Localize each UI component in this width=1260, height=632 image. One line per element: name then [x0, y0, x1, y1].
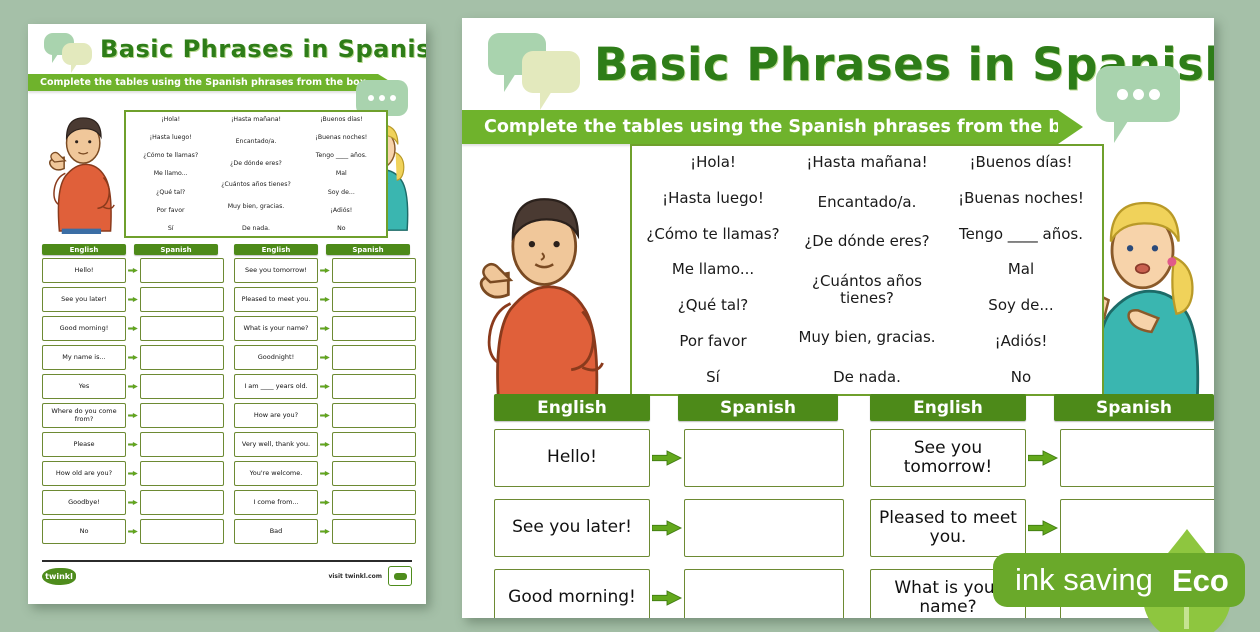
phrase-column-3: ¡Buenos días! ¡Buenas noches! Tengo ____…	[299, 116, 384, 232]
arrow-right-icon	[128, 268, 138, 273]
arrow-right-icon	[320, 413, 330, 418]
english-phrase-cell: Please	[42, 432, 126, 457]
speech-bubble-icon	[42, 29, 96, 69]
english-phrase-cell: You're welcome.	[234, 461, 318, 486]
english-phrase-cell: Pleased to meet you.	[234, 287, 318, 312]
spanish-answer-cell[interactable]	[332, 461, 416, 486]
arrow-right-icon	[128, 326, 138, 331]
page-title: Basic Phrases in Spanish	[100, 35, 426, 63]
spanish-answer-cell[interactable]	[140, 345, 224, 370]
ink-saving-eco-badge: ink saving Eco	[993, 527, 1260, 632]
table-row: What is your name?	[234, 316, 416, 341]
table-row: Goodbye!	[42, 490, 224, 515]
table-row: How old are you?	[42, 461, 224, 486]
english-phrase-cell: Where do you come from?	[42, 403, 126, 428]
english-phrase-cell: What is your name?	[234, 316, 318, 341]
arrow-right-icon	[318, 355, 332, 360]
table-header-row: English Spanish	[42, 244, 224, 255]
spanish-answer-cell[interactable]	[1060, 429, 1214, 487]
table-left: English Spanish Hello!See you later!Good…	[494, 394, 844, 618]
speech-bubble-dots-icon	[1096, 66, 1180, 122]
phrase-column-1: ¡Hola! ¡Hasta luego! ¿Cómo te llamas? Me…	[636, 154, 790, 386]
english-phrase-cell: How are you?	[234, 403, 318, 428]
table-row: Bad	[234, 519, 416, 544]
table-row: Please	[42, 432, 224, 457]
table-row: My name is...	[42, 345, 224, 370]
ink-saving-label: ink saving	[1015, 562, 1153, 598]
arrow-right-icon	[318, 529, 332, 534]
spanish-answer-cell[interactable]	[332, 287, 416, 312]
phrase-box: ¡Hola! ¡Hasta luego! ¿Cómo te llamas? Me…	[630, 144, 1104, 396]
arrow-right-icon	[318, 442, 332, 447]
spanish-answer-cell[interactable]	[332, 258, 416, 283]
arrow-right-icon	[320, 297, 330, 302]
phrase-column-2: ¡Hasta mañana! Encantado/a. ¿De dónde er…	[790, 154, 944, 386]
arrow-right-icon	[126, 471, 140, 476]
table-header-row: English Spanish	[234, 244, 416, 255]
spanish-answer-cell[interactable]	[140, 287, 224, 312]
spanish-answer-cell[interactable]	[140, 432, 224, 457]
table-row: Good morning!	[494, 569, 844, 618]
table-row: See you later!	[42, 287, 224, 312]
footer: twinkl visit twinkl.com	[42, 564, 412, 588]
arrow-right-icon	[320, 442, 330, 447]
english-phrase-cell: I come from...	[234, 490, 318, 515]
spanish-answer-cell[interactable]	[140, 316, 224, 341]
arrow-right-icon	[652, 520, 682, 536]
boy-illustration	[472, 188, 612, 418]
arrow-right-icon	[126, 355, 140, 360]
table-row: How are you?	[234, 403, 416, 428]
table-row: I am ____ years old.	[234, 374, 416, 399]
arrow-right-icon	[128, 500, 138, 505]
column-header-english: English	[494, 394, 650, 421]
table-left: English Spanish Hello!See you later!Good…	[42, 244, 224, 548]
spanish-answer-cell[interactable]	[684, 429, 844, 487]
english-phrase-cell: Good morning!	[494, 569, 650, 618]
arrow-right-icon	[318, 384, 332, 389]
column-header-english: English	[870, 394, 1026, 421]
arrow-right-icon	[126, 268, 140, 273]
spanish-answer-cell[interactable]	[140, 403, 224, 428]
arrow-right-icon	[320, 500, 330, 505]
english-phrase-cell: How old are you?	[42, 461, 126, 486]
arrow-right-icon	[126, 326, 140, 331]
spanish-answer-cell[interactable]	[684, 569, 844, 618]
table-row: Where do you come from?	[42, 403, 224, 428]
arrow-right-icon	[320, 355, 330, 360]
arrow-right-icon	[128, 384, 138, 389]
phrase-column-2: ¡Hasta mañana! Encantado/a. ¿De dónde er…	[213, 116, 298, 232]
instruction-text: Complete the tables using the Spanish ph…	[484, 117, 1091, 137]
arrow-right-icon	[320, 471, 330, 476]
spanish-answer-cell[interactable]	[332, 403, 416, 428]
speech-bubble-icon	[484, 25, 588, 103]
arrow-right-icon	[318, 471, 332, 476]
arrow-right-icon	[128, 297, 138, 302]
arrow-right-icon	[318, 268, 332, 273]
footer-divider	[42, 560, 412, 562]
table-row: Pleased to meet you.	[234, 287, 416, 312]
arrow-right-icon	[126, 529, 140, 534]
spanish-answer-cell[interactable]	[140, 374, 224, 399]
boy-illustration	[46, 112, 118, 234]
column-header-english: English	[234, 244, 318, 255]
arrow-right-icon	[652, 450, 682, 466]
arrow-right-icon	[318, 326, 332, 331]
table-row: Goodnight!	[234, 345, 416, 370]
table-row: See you later!	[494, 499, 844, 557]
english-phrase-cell: Very well, thank you.	[234, 432, 318, 457]
english-phrase-cell: Hello!	[494, 429, 650, 487]
english-phrase-cell: No	[42, 519, 126, 544]
english-phrase-cell: See you tomorrow!	[234, 258, 318, 283]
arrow-right-icon	[320, 326, 330, 331]
spanish-answer-cell[interactable]	[332, 374, 416, 399]
table-row: You're welcome.	[234, 461, 416, 486]
table-row: Hello!	[42, 258, 224, 283]
arrow-right-icon	[320, 268, 330, 273]
english-phrase-cell: Yes	[42, 374, 126, 399]
screenshot-stage: Basic Phrases in Spanish Complete the ta…	[0, 0, 1260, 630]
spanish-answer-cell[interactable]	[332, 316, 416, 341]
spanish-answer-cell[interactable]	[684, 499, 844, 557]
phrase-box: ¡Hola! ¡Hasta luego! ¿Cómo te llamas? Me…	[124, 110, 388, 238]
english-phrase-cell: I am ____ years old.	[234, 374, 318, 399]
arrow-right-icon	[128, 471, 138, 476]
table-row: Good morning!	[42, 316, 224, 341]
column-header-english: English	[42, 244, 126, 255]
arrow-right-icon	[126, 500, 140, 505]
spanish-answer-cell[interactable]	[332, 432, 416, 457]
arrow-right-icon	[320, 529, 330, 534]
spanish-answer-cell[interactable]	[140, 461, 224, 486]
table-header-row: English Spanish	[870, 394, 1214, 421]
table-right: English Spanish See you tomorrow!Pleased…	[234, 244, 416, 548]
table-row: See you tomorrow!	[870, 429, 1214, 487]
spanish-answer-cell[interactable]	[140, 258, 224, 283]
arrow-right-icon	[126, 442, 140, 447]
arrow-right-icon	[318, 413, 332, 418]
spanish-answer-cell[interactable]	[332, 490, 416, 515]
visit-link[interactable]: visit twinkl.com	[328, 573, 382, 580]
instruction-banner: Complete the tables using the Spanish ph…	[462, 110, 1058, 144]
arrow-right-icon	[320, 384, 330, 389]
arrow-right-icon	[652, 590, 682, 606]
table-row: Yes	[42, 374, 224, 399]
table-row: No	[42, 519, 224, 544]
arrow-right-icon	[318, 297, 332, 302]
phrase-column-3: ¡Buenos días! ¡Buenas noches! Tengo ____…	[944, 154, 1098, 386]
arrow-right-icon	[1026, 450, 1060, 466]
english-phrase-cell: See you later!	[494, 499, 650, 557]
table-row: Very well, thank you.	[234, 432, 416, 457]
column-header-spanish: Spanish	[1054, 394, 1214, 421]
spanish-answer-cell[interactable]	[140, 519, 224, 544]
table-row: Hello!	[494, 429, 844, 487]
column-header-spanish: Spanish	[134, 244, 218, 255]
arrow-right-icon	[128, 442, 138, 447]
arrow-right-icon	[128, 529, 138, 534]
arrow-right-icon	[318, 500, 332, 505]
arrow-right-icon	[126, 413, 140, 418]
english-phrase-cell: See you tomorrow!	[870, 429, 1026, 487]
english-phrase-cell: Bad	[234, 519, 318, 544]
arrow-right-icon	[128, 413, 138, 418]
arrow-right-icon	[126, 384, 140, 389]
worksheet-thumbnail[interactable]: Basic Phrases in Spanish Complete the ta…	[28, 24, 426, 604]
table-header-row: English Spanish	[494, 394, 844, 421]
table-row: I come from...	[234, 490, 416, 515]
eco-label: Eco	[1172, 563, 1229, 599]
english-phrase-cell: Goodbye!	[42, 490, 126, 515]
instruction-banner: Complete the tables using the Spanish ph…	[28, 74, 378, 91]
column-header-spanish: Spanish	[326, 244, 410, 255]
arrow-right-icon	[1028, 450, 1058, 466]
thumbnail-tables: English Spanish Hello!See you later!Good…	[42, 244, 416, 548]
arrow-right-icon	[126, 297, 140, 302]
spanish-answer-cell[interactable]	[332, 519, 416, 544]
column-header-spanish: Spanish	[678, 394, 838, 421]
english-phrase-cell: Hello!	[42, 258, 126, 283]
english-phrase-cell: My name is...	[42, 345, 126, 370]
arrow-right-icon	[128, 355, 138, 360]
english-phrase-cell: Goodnight!	[234, 345, 318, 370]
arrow-right-icon	[650, 520, 684, 536]
thumbnail-header: Basic Phrases in Spanish	[28, 24, 426, 74]
english-phrase-cell: Good morning!	[42, 316, 126, 341]
english-phrase-cell: See you later!	[42, 287, 126, 312]
eco-mini-icon	[388, 566, 412, 586]
spanish-answer-cell[interactable]	[140, 490, 224, 515]
arrow-right-icon	[650, 450, 684, 466]
twinkl-logo[interactable]: twinkl	[42, 568, 76, 585]
table-row: See you tomorrow!	[234, 258, 416, 283]
spanish-answer-cell[interactable]	[332, 345, 416, 370]
phrase-column-1: ¡Hola! ¡Hasta luego! ¿Cómo te llamas? Me…	[128, 116, 213, 232]
arrow-right-icon	[650, 590, 684, 606]
instruction-text: Complete the tables using the Spanish ph…	[40, 77, 369, 88]
